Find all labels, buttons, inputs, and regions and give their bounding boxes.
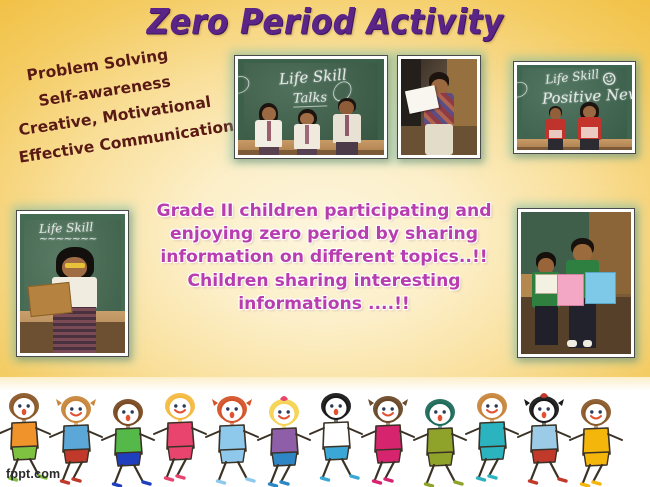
doodle-child-girl-redhead-blue xyxy=(206,396,258,483)
doodle-child-girl-blue-redbow xyxy=(518,393,570,483)
doodle-child-boy-red-backpack xyxy=(310,393,362,480)
slide-canvas: Zero Period Activity Problem Solving Sel… xyxy=(0,0,650,487)
photo-girl-with-clipboard: Life Skill ~~~~~~~ xyxy=(16,210,129,357)
doodle-child-girl-yellow-dress xyxy=(570,399,622,486)
doodle-child-girl-olive-dress xyxy=(414,399,466,486)
doodle-child-boy-magenta-shirt xyxy=(362,396,414,483)
keyword-list: Problem Solving Self-awareness Creative,… xyxy=(4,37,252,177)
body-text-block: Grade II children participating and enjo… xyxy=(145,200,503,315)
photo-classroom-three-children: Life Skill Talks ⃝ ⃝ xyxy=(234,55,388,159)
photo-two-boys-green-uniform xyxy=(517,208,635,358)
page-title: Zero Period Activity xyxy=(0,2,650,42)
doodle-children-border: fppt.com xyxy=(0,377,650,487)
photo-boy-reading-paper xyxy=(397,55,481,159)
watermark-fppt: fppt.com xyxy=(6,467,60,481)
doodle-child-boy-teal-shirt xyxy=(466,393,518,480)
body-paragraph-2: Children sharing interesting information… xyxy=(145,270,503,316)
photo-two-children-red-uniform: Life Skill Positive News ⃝ ☺ xyxy=(513,61,636,154)
body-paragraph-1: Grade II children participating and enjo… xyxy=(145,200,503,269)
doodle-child-girl-pink-dress xyxy=(154,393,206,480)
doodle-child-girl-purple-skirt xyxy=(258,396,310,486)
doodle-child-boy-green-shirt xyxy=(102,399,154,486)
